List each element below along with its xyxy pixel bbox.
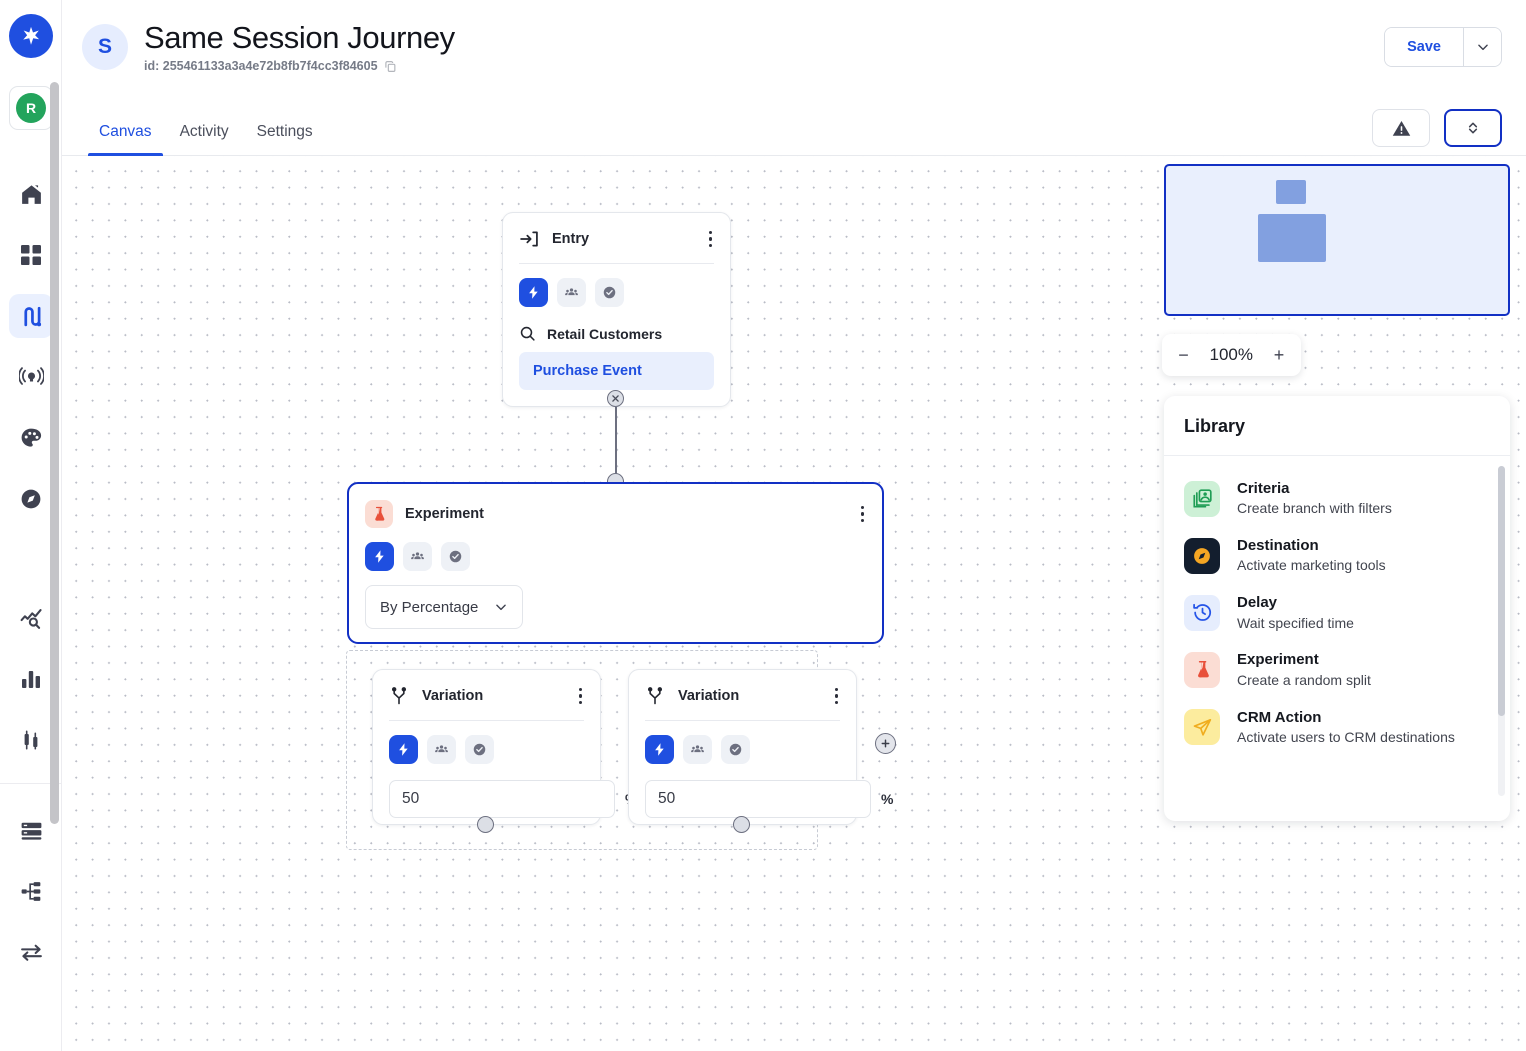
library-item-title: Delay	[1237, 593, 1354, 613]
chevron-down-icon	[1476, 40, 1490, 54]
copy-icon[interactable]	[384, 60, 397, 73]
variation-1-chip-conditions[interactable]	[465, 735, 494, 764]
library-item-subtitle: Wait specified time	[1237, 614, 1354, 633]
entry-chip-audience[interactable]	[557, 278, 586, 307]
criteria-icon-bg	[1184, 481, 1220, 517]
experiment-icon	[1193, 660, 1212, 679]
lightning-icon	[526, 285, 541, 300]
plus-circle-icon	[880, 738, 891, 749]
users-icon	[410, 549, 425, 564]
workspace-switcher[interactable]: R	[9, 86, 53, 130]
minimap-node-experiment	[1258, 214, 1326, 262]
experiment-flask-icon	[371, 506, 387, 522]
variation-1-chips	[373, 721, 600, 764]
variation-2-menu[interactable]	[831, 684, 842, 708]
library-item-subtitle: Create branch with filters	[1237, 499, 1392, 518]
users-icon	[434, 742, 449, 757]
candlestick-icon	[19, 728, 43, 752]
broadcast-icon	[19, 365, 44, 390]
library-item-criteria[interactable]: Criteria Create branch with filters	[1164, 470, 1510, 527]
experiment-node-icon-bg	[365, 500, 393, 528]
check-circle-icon	[602, 285, 617, 300]
zoom-control: − 100% +	[1162, 334, 1301, 376]
tab-canvas[interactable]: Canvas	[88, 123, 163, 155]
library-item-delay[interactable]: Delay Wait specified time	[1164, 584, 1510, 641]
variation-1-chip-audience[interactable]	[427, 735, 456, 764]
crm-action-icon-bg	[1184, 709, 1220, 745]
bar-chart-icon	[19, 667, 43, 691]
variation-1-percent-input[interactable]	[389, 780, 615, 818]
sidebar-item-data-sources[interactable]	[9, 808, 53, 852]
variation-1-bottom-handle[interactable]	[477, 816, 494, 833]
node-variation-1[interactable]: Variation %	[372, 669, 601, 825]
library-item-destination[interactable]: Destination Activate marketing tools	[1164, 527, 1510, 584]
zoom-in-button[interactable]: +	[1263, 339, 1295, 371]
journey-id: id: 255461133a3a4e72b8fb7f4cc3f84605	[144, 59, 378, 73]
entry-chip-conditions[interactable]	[595, 278, 624, 307]
entry-event-pill[interactable]: Purchase Event	[519, 352, 714, 390]
node-variation-2[interactable]: Variation %	[628, 669, 857, 825]
experiment-chip-trigger[interactable]	[365, 542, 394, 571]
variation-2-bottom-handle[interactable]	[733, 816, 750, 833]
library-item-title: Criteria	[1237, 479, 1392, 499]
sidebar-item-journeys[interactable]	[9, 294, 53, 338]
experiment-icon-bg	[1184, 652, 1220, 688]
entry-audience-label: Retail Customers	[547, 326, 662, 342]
entry-audience-row: Retail Customers	[503, 325, 730, 342]
grid-icon	[19, 243, 43, 267]
variation-1-chip-trigger[interactable]	[389, 735, 418, 764]
save-button[interactable]: Save	[1385, 28, 1463, 66]
entry-bottom-handle[interactable]	[607, 390, 624, 407]
node-entry[interactable]: Entry Retail Custo	[502, 212, 731, 407]
left-nav-rail: R	[0, 0, 62, 1051]
add-branch-button[interactable]	[875, 733, 896, 754]
variation-2-chip-audience[interactable]	[683, 735, 712, 764]
canvas-minimap[interactable]	[1164, 164, 1510, 316]
home-icon	[19, 182, 44, 207]
library-item-title: Destination	[1237, 536, 1386, 556]
library-title: Library	[1164, 396, 1510, 456]
branch-split-icon	[645, 686, 665, 706]
entry-node-header: Entry	[503, 213, 730, 263]
delay-text: Delay Wait specified time	[1237, 593, 1354, 632]
experiment-node-title: Experiment	[405, 506, 484, 522]
entry-node-title: Entry	[552, 231, 589, 247]
variation-1-title: Variation	[422, 688, 483, 704]
entry-chip-trigger[interactable]	[519, 278, 548, 307]
chevron-down-icon	[494, 600, 508, 614]
warning-triangle-icon	[1391, 118, 1412, 139]
library-scrollbar[interactable]	[1498, 466, 1505, 716]
variation-2-header: Variation	[629, 670, 856, 720]
app-logo[interactable]	[9, 14, 53, 58]
library-item-title: CRM Action	[1237, 708, 1455, 728]
split-mode-select[interactable]: By Percentage	[365, 585, 523, 629]
chart-search-icon	[19, 606, 44, 631]
split-mode-value: By Percentage	[380, 599, 478, 616]
library-panel: Library Cri	[1164, 396, 1510, 821]
search-icon	[519, 325, 536, 342]
close-icon	[611, 394, 620, 403]
journey-icon	[19, 304, 44, 329]
avatar: R	[16, 93, 46, 123]
journey-id-row: id: 255461133a3a4e72b8fb7f4cc3f84605	[144, 59, 455, 73]
tab-settings[interactable]: Settings	[246, 123, 324, 155]
sidebar-item-explore[interactable]	[9, 596, 53, 640]
crm-action-icon	[1192, 717, 1213, 738]
sidebar-item-reports[interactable]	[9, 657, 53, 701]
minimap-node-entry	[1276, 180, 1306, 204]
variation-2-chips	[629, 721, 856, 764]
check-circle-icon	[448, 549, 463, 564]
sidebar-item-home[interactable]	[9, 172, 53, 216]
lightning-icon	[372, 549, 387, 564]
crm-action-text: CRM Action Activate users to CRM destina…	[1237, 708, 1455, 747]
server-icon	[19, 818, 44, 843]
delay-icon	[1192, 602, 1213, 623]
check-circle-icon	[472, 742, 487, 757]
app-root: R	[0, 0, 1526, 1051]
top-bar: S Same Session Journey id: 255461133a3a4…	[62, 0, 1526, 94]
sidebar-item-destinations[interactable]	[9, 477, 53, 521]
library-item-crm-action[interactable]: CRM Action Activate users to CRM destina…	[1164, 699, 1510, 756]
criteria-text: Criteria Create branch with filters	[1237, 479, 1392, 518]
destination-icon-bg	[1184, 538, 1220, 574]
main-area: S Same Session Journey id: 255461133a3a4…	[62, 0, 1526, 1051]
sidebar-item-experiments[interactable]	[9, 718, 53, 762]
page-title: Same Session Journey	[144, 21, 455, 55]
sidebar-item-personalization[interactable]	[9, 416, 53, 460]
variation-2-percent-input[interactable]	[645, 780, 871, 818]
sidebar-item-broadcast[interactable]	[9, 355, 53, 399]
save-split-button: Save	[1384, 27, 1502, 67]
top-bar-actions: Save	[1384, 27, 1502, 67]
tab-activity[interactable]: Activity	[169, 123, 240, 155]
delay-icon-bg	[1184, 595, 1220, 631]
sitemap-icon	[19, 879, 44, 904]
library-item-list[interactable]: Criteria Create branch with filters	[1164, 456, 1510, 821]
users-icon	[564, 285, 579, 300]
criteria-icon	[1192, 488, 1213, 509]
zoom-level: 100%	[1200, 345, 1263, 365]
entry-arrow-icon	[519, 229, 539, 249]
node-experiment[interactable]: Experiment By Percentage	[347, 482, 884, 644]
library-item-subtitle: Activate marketing tools	[1237, 556, 1386, 575]
journey-avatar: S	[82, 24, 128, 70]
branch-split-icon	[389, 686, 409, 706]
library-item-subtitle: Activate users to CRM destinations	[1237, 728, 1455, 747]
library-item-subtitle: Create a random split	[1237, 671, 1371, 690]
lightning-icon	[652, 742, 667, 757]
palette-icon	[19, 426, 43, 450]
variation-2-percent-sign: %	[881, 791, 893, 807]
experiment-text: Experiment Create a random split	[1237, 650, 1371, 689]
sparkle-logo-icon	[20, 25, 42, 47]
experiment-split-row: By Percentage	[349, 571, 882, 629]
destination-icon	[1191, 545, 1213, 567]
experiment-chip-audience[interactable]	[403, 542, 432, 571]
variation-2-chip-conditions[interactable]	[721, 735, 750, 764]
sidebar-item-dashboards[interactable]	[9, 233, 53, 277]
library-item-title: Experiment	[1237, 650, 1371, 670]
rail-scrollbar[interactable]	[50, 82, 59, 824]
experiment-chip-conditions[interactable]	[441, 542, 470, 571]
tab-bar: Canvas Activity Settings	[62, 94, 1526, 156]
variation-2-chip-trigger[interactable]	[645, 735, 674, 764]
title-block: Same Session Journey id: 255461133a3a4e7…	[144, 21, 455, 73]
zoom-out-button[interactable]: −	[1168, 339, 1200, 371]
journey-canvas[interactable]: Entry Retail Custo	[62, 156, 1526, 1051]
destination-text: Destination Activate marketing tools	[1237, 536, 1386, 575]
entry-node-menu[interactable]	[705, 227, 716, 251]
experiment-node-header: Experiment	[349, 484, 882, 540]
tab-bar-actions	[1372, 109, 1502, 155]
variation-1-menu[interactable]	[575, 684, 586, 708]
fit-view-button[interactable]	[1444, 109, 1502, 147]
compass-icon	[19, 487, 43, 511]
tab-list: Canvas Activity Settings	[88, 123, 324, 155]
variation-2-title: Variation	[678, 688, 739, 704]
check-circle-icon	[728, 742, 743, 757]
experiment-node-chips	[349, 540, 882, 571]
warnings-button[interactable]	[1372, 109, 1430, 147]
save-options-button[interactable]	[1463, 28, 1501, 66]
chevron-up-down-icon	[1465, 118, 1481, 138]
entry-node-chips	[503, 264, 730, 307]
arrows-exchange-icon	[19, 940, 44, 965]
sidebar-item-sync[interactable]	[9, 930, 53, 974]
experiment-node-menu[interactable]	[857, 502, 868, 526]
lightning-icon	[396, 742, 411, 757]
library-item-experiment[interactable]: Experiment Create a random split	[1164, 641, 1510, 698]
users-icon	[690, 742, 705, 757]
variation-1-header: Variation	[373, 670, 600, 720]
sidebar-item-schema[interactable]	[9, 869, 53, 913]
